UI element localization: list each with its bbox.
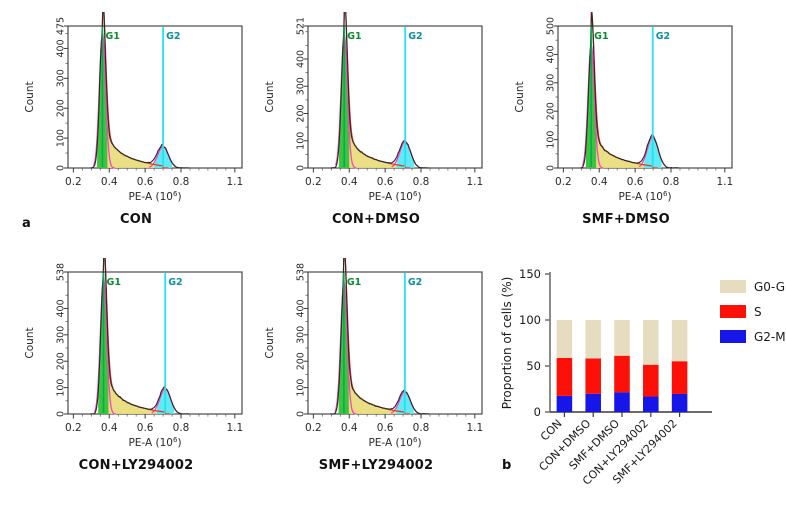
legend-label-g0-g1: G0-G1 xyxy=(754,280,786,294)
bar-y-tick-label: 150 xyxy=(519,267,541,281)
y-tick-label: 400 xyxy=(56,39,67,57)
bar-y-tick-label: 50 xyxy=(526,359,541,373)
flow-panel-title-con-dmso: CON+DMSO xyxy=(262,212,490,227)
flow-histogram-smf-ly294002: 0100200300400538Count0.20.40.60.81.1PE-A… xyxy=(262,258,490,482)
bar-segment-g2-m[interactable] xyxy=(643,397,659,412)
x-tick-label: 1.1 xyxy=(226,422,243,434)
x-tick-label: 0.8 xyxy=(173,176,190,188)
x-tick-label: 0.4 xyxy=(101,422,118,434)
y-tick-label: 400 xyxy=(296,50,307,68)
y-tick-label: 100 xyxy=(546,131,557,149)
figure-root: 0100200300400475Count0.20.40.60.81.1PE-A… xyxy=(0,0,786,504)
y-tick-label: 100 xyxy=(56,129,67,147)
x-tick-label: 0.8 xyxy=(173,422,190,434)
bar-segment-s[interactable] xyxy=(614,356,630,393)
y-tick-label: 400 xyxy=(56,299,67,317)
x-tick-label: 0.6 xyxy=(137,176,154,188)
flow-panel-title-con-ly294002: CON+LY294002 xyxy=(22,458,250,473)
x-tick-label: 0.4 xyxy=(341,176,358,188)
x-axis-title: PE-A (106) xyxy=(368,190,421,203)
bar-segment-g2-m[interactable] xyxy=(557,396,573,412)
x-tick-label: 0.6 xyxy=(377,176,394,188)
y-tick-label: 200 xyxy=(296,352,307,370)
y-tick-label: 300 xyxy=(296,77,307,95)
g1-gate-label: G1 xyxy=(107,277,121,288)
g2-gate-label: G2 xyxy=(166,31,180,42)
x-tick-label: 0.8 xyxy=(413,176,430,188)
y-tick-label: 0 xyxy=(296,411,307,417)
g2-gate-label: G2 xyxy=(168,277,182,288)
flow-panel-title-smf-ly294002: SMF+LY294002 xyxy=(262,458,490,473)
bar-segment-g2-m[interactable] xyxy=(672,394,688,412)
x-tick-label: 1.1 xyxy=(226,176,243,188)
bar-segment-g2-m[interactable] xyxy=(614,392,630,412)
y-tick-label: 200 xyxy=(56,99,67,117)
y-tick-label: 475 xyxy=(56,17,67,35)
g2-gate-label: G2 xyxy=(408,31,422,42)
x-tick-label: 0.6 xyxy=(377,422,394,434)
g1-gate-label: G1 xyxy=(594,31,608,42)
bar-segment-g0-g1[interactable] xyxy=(557,320,573,358)
x-tick-label: 0.2 xyxy=(65,422,82,434)
g1-gate-label: G1 xyxy=(105,31,119,42)
y-tick-label: 100 xyxy=(296,379,307,397)
y-tick-label: 400 xyxy=(296,299,307,317)
x-tick-label: 0.8 xyxy=(663,176,680,188)
y-tick-label: 538 xyxy=(56,263,67,281)
histogram-svg-con-dmso: 0100200300400521Count0.20.40.60.81.1PE-A… xyxy=(262,12,490,212)
bar-segment-g2-m[interactable] xyxy=(585,394,601,412)
histogram-svg-smf-dmso: 0100200300400500Count0.20.40.60.81.1PE-A… xyxy=(512,12,740,212)
y-tick-label: 0 xyxy=(296,165,307,171)
y-tick-label: 0 xyxy=(56,411,67,417)
histogram-svg-con-ly294002: 0100200300400538Count0.20.40.60.81.1PE-A… xyxy=(22,258,250,458)
y-tick-label: 400 xyxy=(546,45,557,63)
x-axis-title: PE-A (106) xyxy=(128,190,181,203)
y-tick-label: 538 xyxy=(296,263,307,281)
y-tick-label: 500 xyxy=(546,17,557,35)
y-axis-title: Count xyxy=(24,81,36,112)
legend-label-g2-m: G2-M xyxy=(754,330,786,344)
y-tick-label: 0 xyxy=(546,165,557,171)
x-tick-label: 0.2 xyxy=(305,176,322,188)
flow-histogram-con-dmso: 0100200300400521Count0.20.40.60.81.1PE-A… xyxy=(262,12,490,236)
y-tick-label: 300 xyxy=(56,326,67,344)
bar-segment-s[interactable] xyxy=(672,361,688,394)
x-axis-title: PE-A (106) xyxy=(618,190,671,203)
y-tick-label: 300 xyxy=(546,74,557,92)
x-tick-label: 0.2 xyxy=(555,176,572,188)
y-tick-label: 100 xyxy=(296,132,307,150)
flow-panel-title-con: CON xyxy=(22,212,250,227)
y-axis-title: Count xyxy=(264,327,276,358)
legend-label-s: S xyxy=(754,305,762,319)
legend-swatch-g2-m xyxy=(720,330,746,343)
legend-swatch-s xyxy=(720,305,746,318)
y-tick-label: 200 xyxy=(546,102,557,120)
x-tick-label: 1.1 xyxy=(466,176,483,188)
x-tick-label: 0.6 xyxy=(627,176,644,188)
bar-segment-g0-g1[interactable] xyxy=(614,320,630,356)
x-tick-label: 0.8 xyxy=(413,422,430,434)
bar-segment-s[interactable] xyxy=(585,358,601,393)
g1-gate-label: G1 xyxy=(347,277,361,288)
bar-y-tick-label: 100 xyxy=(519,313,541,327)
x-tick-label: 0.4 xyxy=(591,176,608,188)
bar-segment-s[interactable] xyxy=(557,358,573,396)
y-tick-label: 300 xyxy=(296,326,307,344)
x-tick-label: 0.6 xyxy=(137,422,154,434)
g2-gate-label: G2 xyxy=(656,31,670,42)
x-axis-title: PE-A (106) xyxy=(368,436,421,449)
g2-gate-label: G2 xyxy=(408,277,422,288)
panel-letter-b: b xyxy=(502,458,511,473)
y-axis-title: Count xyxy=(24,327,36,358)
bar-segment-s[interactable] xyxy=(643,365,659,397)
bar-segment-g0-g1[interactable] xyxy=(672,320,688,361)
y-tick-label: 200 xyxy=(296,104,307,122)
flow-histogram-con: 0100200300400475Count0.20.40.60.81.1PE-A… xyxy=(22,12,250,236)
panel-letter-a: a xyxy=(22,216,31,231)
flow-panel-title-smf-dmso: SMF+DMSO xyxy=(512,212,740,227)
flow-histogram-con-ly294002: 0100200300400538Count0.20.40.60.81.1PE-A… xyxy=(22,258,250,482)
g1-gate-label: G1 xyxy=(347,31,361,42)
x-tick-label: 0.4 xyxy=(341,422,358,434)
histogram-svg-con: 0100200300400475Count0.20.40.60.81.1PE-A… xyxy=(22,12,250,212)
x-tick-label: 0.2 xyxy=(305,422,322,434)
x-axis-title: PE-A (106) xyxy=(128,436,181,449)
bar-y-tick-label: 0 xyxy=(534,405,541,419)
y-tick-label: 521 xyxy=(296,17,307,35)
y-tick-label: 200 xyxy=(56,352,67,370)
bar-segment-g0-g1[interactable] xyxy=(643,320,659,365)
cell-cycle-bar-chart: 050100150Proportion of cells (%)CONCON+D… xyxy=(498,258,786,504)
legend-swatch-g0-g1 xyxy=(720,280,746,293)
bar-chart-svg: 050100150Proportion of cells (%)CONCON+D… xyxy=(498,258,786,504)
y-tick-label: 300 xyxy=(56,69,67,87)
x-tick-label: 0.2 xyxy=(65,176,82,188)
histogram-svg-smf-ly294002: 0100200300400538Count0.20.40.60.81.1PE-A… xyxy=(262,258,490,458)
bar-y-axis-title: Proportion of cells (%) xyxy=(500,277,514,410)
y-axis-title: Count xyxy=(264,81,276,112)
x-tick-label: 1.1 xyxy=(466,422,483,434)
x-tick-label: 0.4 xyxy=(101,176,118,188)
y-axis-title: Count xyxy=(514,81,526,112)
y-tick-label: 100 xyxy=(56,379,67,397)
y-tick-label: 0 xyxy=(56,165,67,171)
flow-histogram-smf-dmso: 0100200300400500Count0.20.40.60.81.1PE-A… xyxy=(512,12,740,236)
bar-segment-g0-g1[interactable] xyxy=(585,320,601,358)
x-tick-label: 1.1 xyxy=(716,176,733,188)
